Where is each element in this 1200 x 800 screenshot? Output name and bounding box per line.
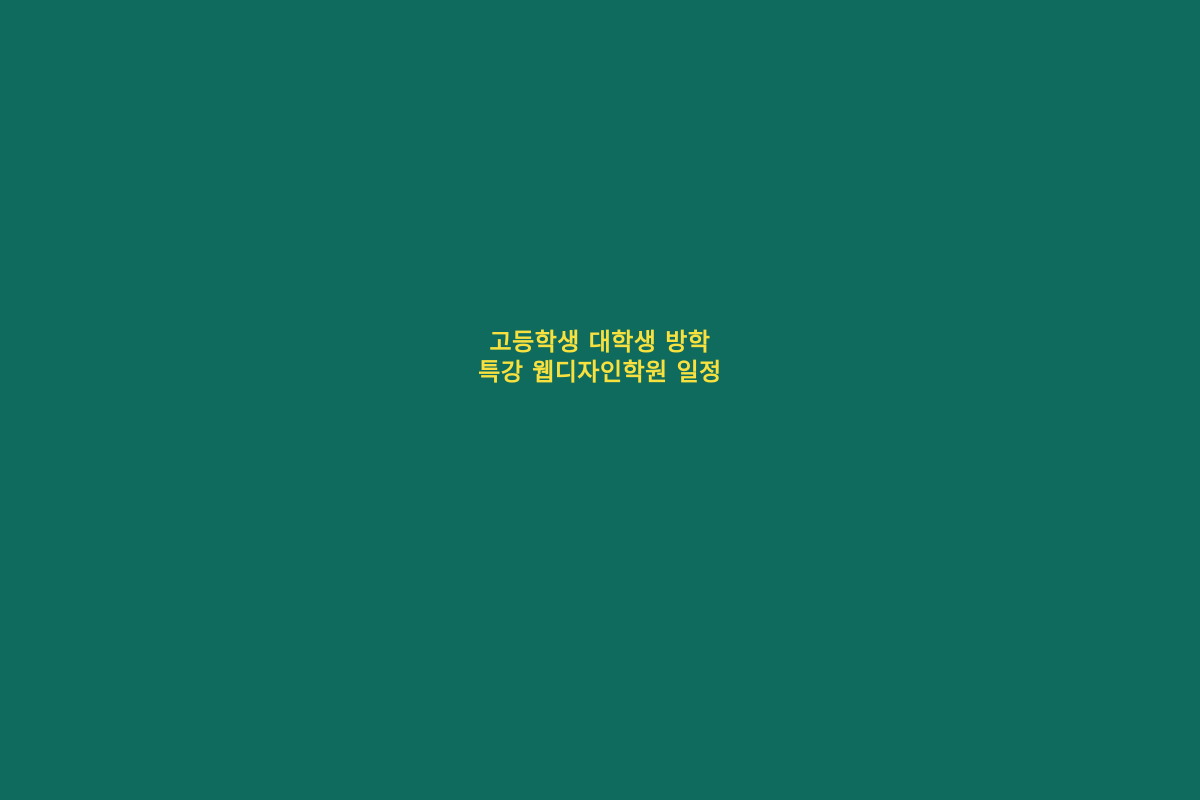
banner-canvas: 고등학생 대학생 방학 특강 웹디자인학원 일정 — [0, 0, 1200, 800]
headline-line-2: 특강 웹디자인학원 일정 — [0, 357, 1200, 387]
headline-block: 고등학생 대학생 방학 특강 웹디자인학원 일정 — [0, 0, 1200, 800]
headline-line-1: 고등학생 대학생 방학 — [0, 327, 1200, 357]
